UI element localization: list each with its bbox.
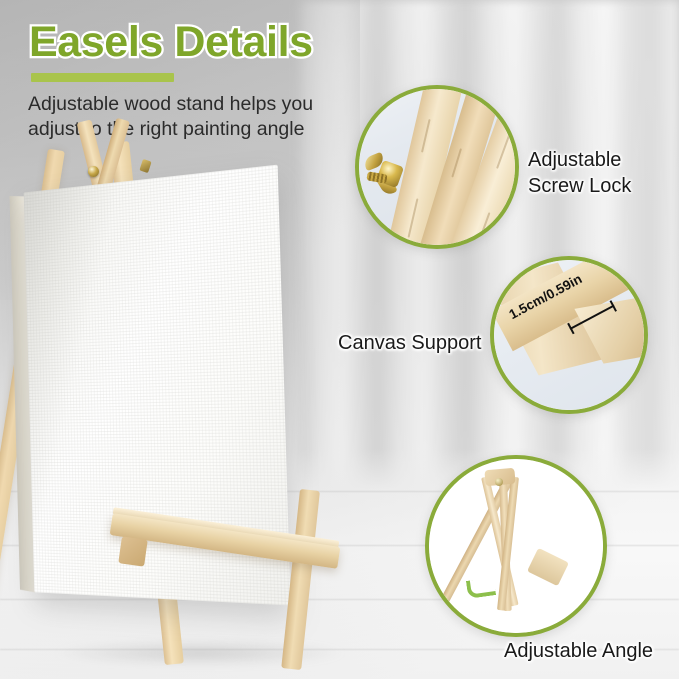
infographic-canvas: Easels Details Adjustable wood stand hel… [0,0,679,679]
tripod-brace [527,548,569,586]
callout-circle-adjustable-angle [425,455,607,637]
callout-circle-screw-lock [355,85,519,249]
page-title: Easels Details [29,18,313,67]
easel-joint-block [118,536,148,566]
callout-circle-canvas-support: 1.5cm/0.59in [490,256,648,414]
wing-nut-icon [365,149,417,201]
tripod-screw-icon [495,478,503,486]
easel-top-screw-icon [88,166,99,177]
callout-label-canvas-support: Canvas Support [338,330,481,356]
tripod-green-hook-icon [466,577,496,599]
callout-label-screw-lock: Adjustable Screw Lock [528,147,631,199]
easel-top-nut-icon [139,159,151,173]
callout-label-adjustable-angle: Adjustable Angle [504,638,653,664]
title-underline [31,73,174,82]
product-photo-easel [0,120,400,679]
